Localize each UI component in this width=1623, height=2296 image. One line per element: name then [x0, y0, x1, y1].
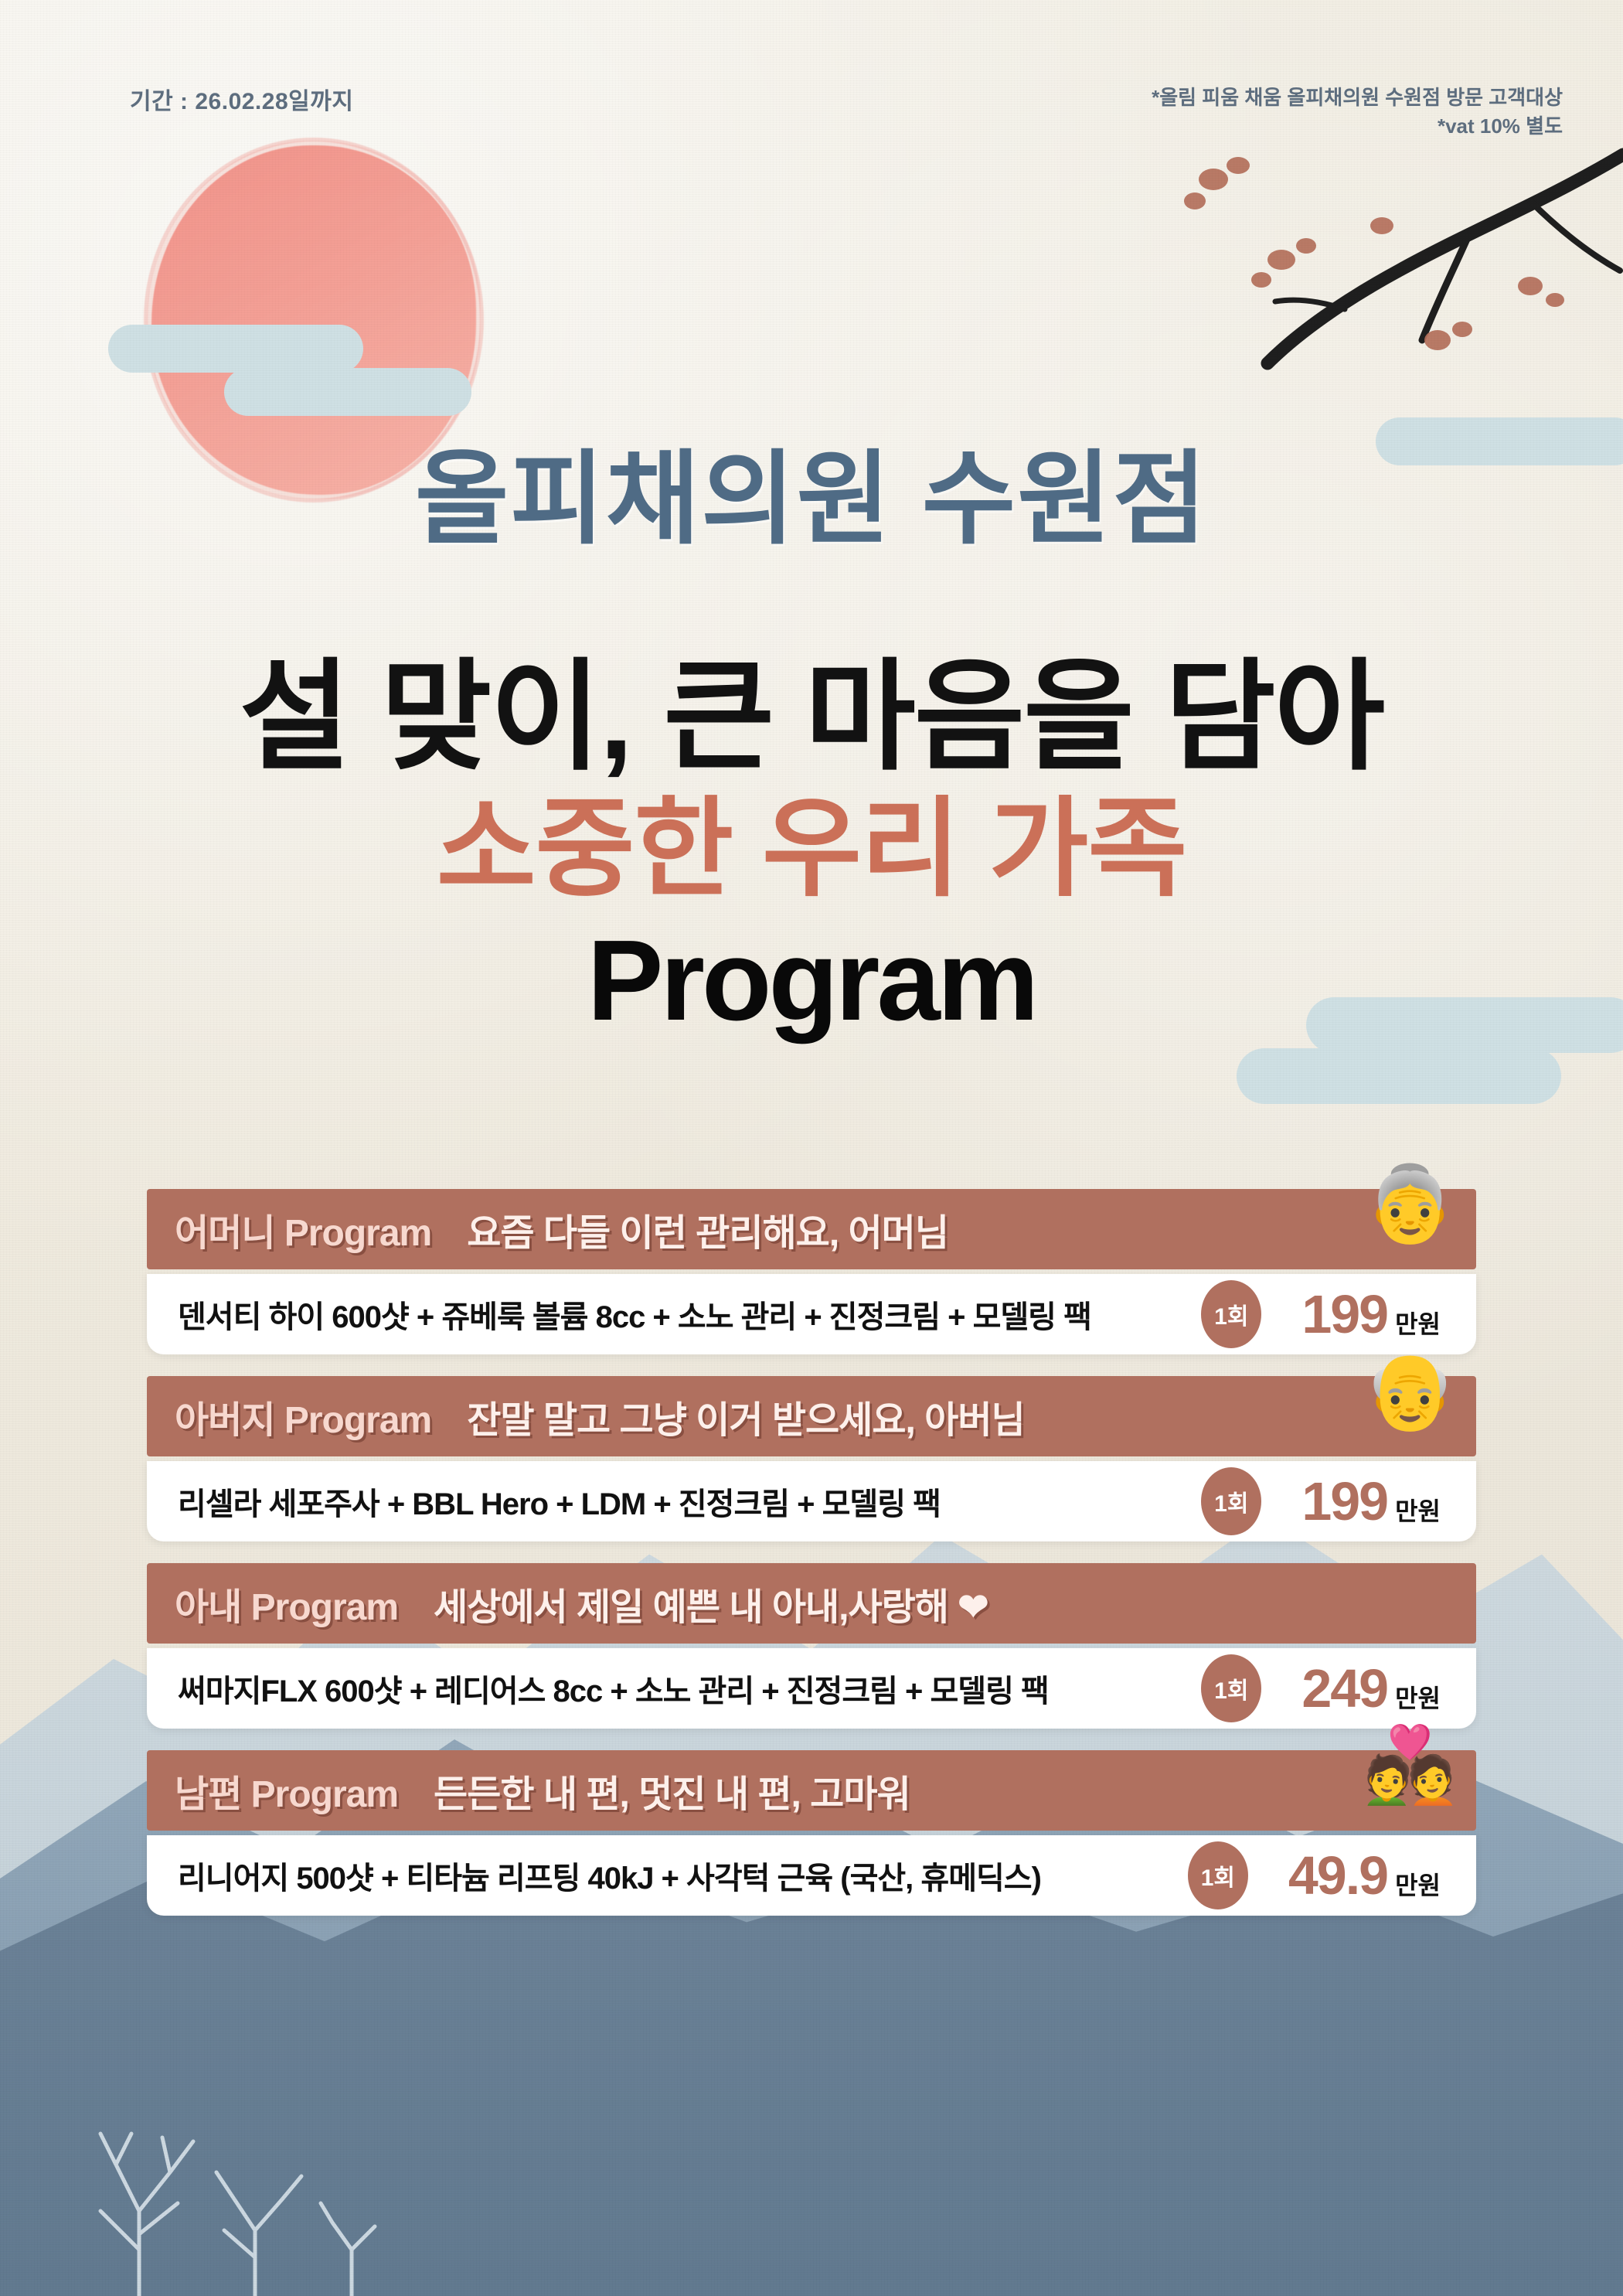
old-woman-emoji: 👵 [1363, 1167, 1456, 1242]
program-description: 리니어지 500샷 + 티타늄 리프팅 40kJ + 사각턱 근육 (국산, 휴… [178, 1853, 1041, 1898]
program-card-header: 아버지 Program 잔말 말고 그냥 이거 받으세요, 아버님 👴 [147, 1376, 1476, 1456]
program-card-header: 남편 Program 든든한 내 편, 멋진 내 편, 고마워 💑 [147, 1750, 1476, 1831]
headline-line-2: 소중한 우리 가족 [0, 795, 1623, 903]
program-card-body: 리셀라 세포주사 + BBL Hero + LDM + 진정크림 + 모델링 팩… [147, 1461, 1476, 1541]
program-price: 199 만원 [1301, 1470, 1441, 1532]
period-label: 기간 : 26.02.28일까지 [130, 82, 353, 116]
program-card-2[interactable]: 아버지 Program 잔말 말고 그냥 이거 받으세요, 아버님 👴 리셀라 … [147, 1376, 1476, 1541]
program-count-badge: 1회 [1201, 1654, 1261, 1722]
program-tagline: 세상에서 제일 예쁜 내 아내,사랑해 ❤ [434, 1576, 988, 1630]
notice-block: *올림 피움 채움 올피채의원 수원점 방문 고객대상 *vat 10% 별도 [1152, 83, 1563, 141]
program-price-number: 49.9 [1288, 1845, 1387, 1906]
program-price-number: 199 [1301, 1470, 1387, 1532]
program-count-badge: 1회 [1188, 1841, 1248, 1909]
program-price-unit: 만원 [1395, 1305, 1441, 1340]
program-price-unit: 만원 [1395, 1492, 1441, 1528]
program-price: 49.9 만원 [1288, 1845, 1441, 1906]
bare-tree-silhouette [46, 2018, 448, 2296]
program-price: 199 만원 [1301, 1283, 1441, 1345]
program-price-unit: 만원 [1395, 1866, 1441, 1902]
program-description: 덴서티 하이 600샷 + 쥬베룩 볼륨 8cc + 소노 관리 + 진정크림 … [178, 1292, 1091, 1337]
program-count-badge: 1회 [1201, 1467, 1261, 1535]
program-tagline: 요즘 다들 이런 관리해요, 어머님 [467, 1202, 948, 1256]
program-tagline: 든든한 내 편, 멋진 내 편, 고마워 [434, 1763, 910, 1817]
headline-line-3: Program [0, 924, 1623, 1038]
program-count-badge: 1회 [1201, 1280, 1261, 1348]
cloud-top-left [108, 325, 433, 433]
program-card-header: 아내 Program 세상에서 제일 예쁜 내 아내,사랑해 ❤ [147, 1563, 1476, 1644]
program-title: 아내 Program [175, 1576, 398, 1630]
notice-line-1: *올림 피움 채움 올피채의원 수원점 방문 고객대상 [1152, 83, 1563, 112]
program-card-body: 덴서티 하이 600샷 + 쥬베룩 볼륨 8cc + 소노 관리 + 진정크림 … [147, 1274, 1476, 1354]
program-description: 써마지FLX 600샷 + 레디어스 8cc + 소노 관리 + 진정크림 + … [178, 1666, 1049, 1711]
program-price-number: 249 [1301, 1657, 1387, 1719]
program-price-number: 199 [1301, 1283, 1387, 1345]
program-title: 어머니 Program [175, 1202, 431, 1256]
plum-blossom-branch [1036, 108, 1623, 479]
old-man-emoji: 👴 [1363, 1354, 1456, 1429]
poster-canvas: 기간 : 26.02.28일까지 *올림 피움 채움 올피채의원 수원점 방문 … [0, 0, 1623, 2296]
program-card-4[interactable]: 남편 Program 든든한 내 편, 멋진 내 편, 고마워 💑 리니어지 5… [147, 1750, 1476, 1916]
program-card-body: 써마지FLX 600샷 + 레디어스 8cc + 소노 관리 + 진정크림 + … [147, 1648, 1476, 1729]
program-title: 남편 Program [175, 1763, 398, 1817]
program-price: 249 만원 [1301, 1657, 1441, 1719]
program-tagline: 잔말 말고 그냥 이거 받으세요, 아버님 [467, 1389, 1024, 1443]
program-description: 리셀라 세포주사 + BBL Hero + LDM + 진정크림 + 모델링 팩 [178, 1479, 941, 1524]
program-card-1[interactable]: 어머니 Program 요즘 다들 이런 관리해요, 어머님 👵 덴서티 하이 … [147, 1189, 1476, 1354]
headline-line-1: 설 맞이, 큰 마음을 담아 [0, 657, 1623, 778]
program-card-list: 어머니 Program 요즘 다들 이런 관리해요, 어머님 👵 덴서티 하이 … [0, 1189, 1623, 1937]
program-card-body: 리니어지 500샷 + 티타늄 리프팅 40kJ + 사각턱 근육 (국산, 휴… [147, 1835, 1476, 1916]
program-title: 아버지 Program [175, 1389, 431, 1443]
program-card-3[interactable]: 아내 Program 세상에서 제일 예쁜 내 아내,사랑해 ❤ 써마지FLX … [147, 1563, 1476, 1729]
program-price-unit: 만원 [1395, 1679, 1441, 1715]
clinic-name-title: 올피채의원 수원점 [0, 448, 1623, 550]
couple-with-heart-emoji: 💑 [1363, 1729, 1456, 1803]
program-card-header: 어머니 Program 요즘 다들 이런 관리해요, 어머님 👵 [147, 1189, 1476, 1269]
notice-line-2: *vat 10% 별도 [1152, 112, 1563, 141]
